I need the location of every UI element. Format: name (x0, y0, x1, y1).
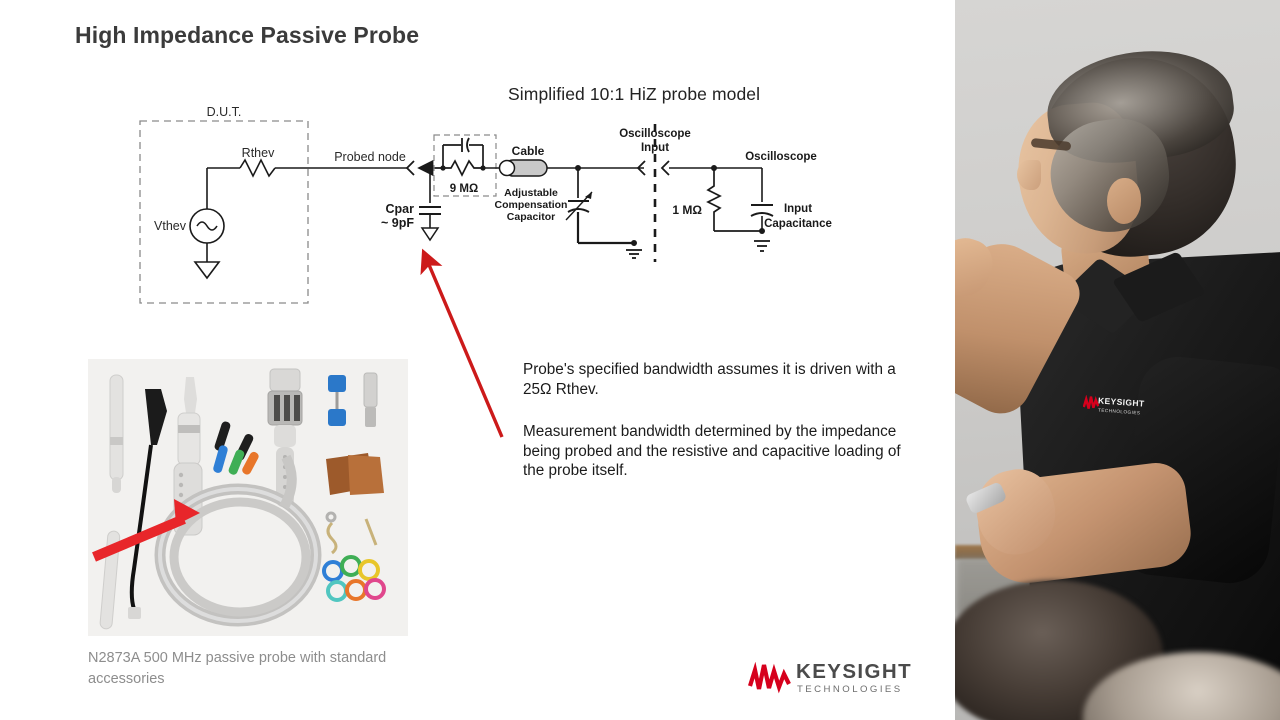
probe-body-accessory (110, 375, 123, 493)
comp-cap-label-line1: Adjustable (504, 187, 558, 199)
comp-cap-plate-bottom (568, 209, 589, 212)
probe-ground-symbol (626, 250, 642, 258)
cable-label: Cable (512, 144, 545, 158)
presenter-nose (1017, 160, 1041, 190)
sine-wave-glyph (197, 222, 217, 230)
probe-resistor-label: 9 MΩ (450, 183, 478, 195)
cpar-label-line1: Cpar (386, 202, 415, 216)
scope-input-connector-right (662, 161, 669, 175)
keysight-logo: KEYSIGHT TECHNOLOGIES (748, 660, 916, 704)
shirt-logo-word: KEYSIGHT (1098, 396, 1145, 407)
scope-resistor-label: 1 MΩ (672, 203, 702, 217)
scope-ground-dot (759, 228, 765, 234)
logo-subtitle: TECHNOLOGIES (797, 684, 903, 695)
scope-input-label-line2: Input (641, 142, 669, 154)
comp-cap-label-line2: Compensation (495, 199, 568, 211)
presenter-video-feed: KEYSIGHT TECHNOLOGIES (955, 0, 1280, 720)
probed-node-label: Probed node (334, 150, 406, 164)
shirt-keysight-mark (1083, 395, 1099, 411)
scope-input-label-line1: Oscilloscope (619, 128, 691, 140)
scope-ground-symbol (754, 241, 770, 251)
probe-ground-dot (631, 240, 637, 246)
input-cap-label-line2: Capacitance (764, 218, 832, 230)
comp-cap-label-line3: Capacitor (507, 211, 555, 223)
scope-1meg-resistor-symbol (708, 168, 720, 231)
passive-probe-accessories-photo (88, 359, 408, 636)
cpar-ground-symbol (422, 228, 438, 240)
presentation-slide: High Impedance Passive Probe Simplified … (0, 0, 955, 720)
body-paragraph-1: Probe's specified bandwidth assumes it i… (523, 360, 923, 399)
cable-symbol (500, 160, 548, 176)
probe-circuit-schematic: D.U.T. Vthev Rthev Probed node (0, 0, 955, 340)
cpar-label-line2: ~ 9pF (381, 216, 414, 230)
dut-ground-symbol (195, 262, 219, 278)
adapter-accessory (364, 373, 377, 427)
dut-label: D.U.T. (207, 105, 242, 119)
presenter-ear (1107, 178, 1141, 224)
input-cap-plate-bottom (751, 213, 773, 216)
probe-9meg-resistor-symbol (443, 161, 483, 175)
copper-tape-accessory (326, 453, 384, 495)
rthev-label: Rthev (242, 146, 275, 160)
dut-boundary-box (140, 121, 308, 303)
oscilloscope-label: Oscilloscope (745, 151, 817, 163)
probe-cap-plate-right (467, 138, 469, 152)
slide-viewer: High Impedance Passive Probe Simplified … (0, 0, 1280, 720)
vthev-label: Vthev (154, 219, 187, 233)
probe-tip-connector (407, 161, 414, 175)
keysight-waveform-mark (748, 662, 792, 696)
photo-caption: N2873A 500 MHz passive probe with standa… (88, 648, 418, 690)
input-cap-label-line1: Input (784, 203, 812, 215)
body-paragraph-2: Measurement bandwidth determined by the … (523, 422, 923, 481)
rthev-resistor-symbol (240, 160, 275, 176)
logo-wordmark: KEYSIGHT (796, 660, 912, 684)
